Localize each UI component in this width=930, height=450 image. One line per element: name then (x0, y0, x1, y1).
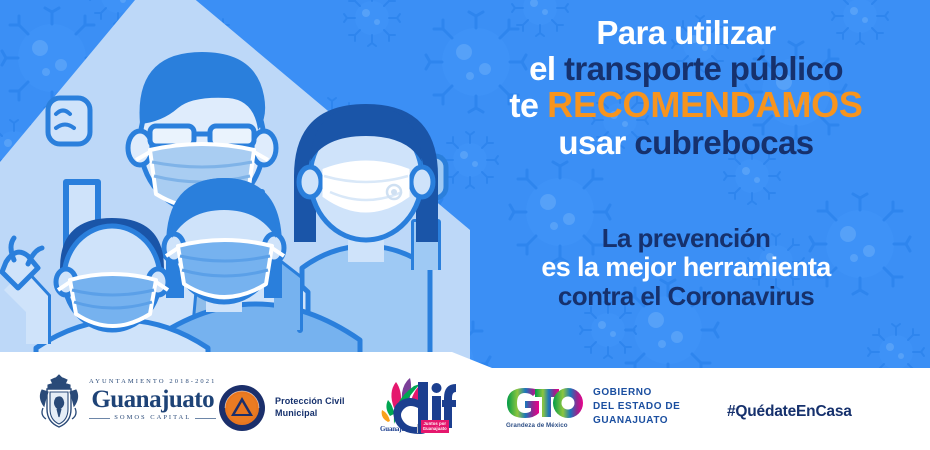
guanajuato-seal-text: AYUNTAMIENTO 2018-2021 Guanajuato SOMOS … (89, 379, 216, 422)
gob-line-3: GUANAJUATO (593, 414, 680, 428)
dif-tagline: Juntos por Guanajuato (421, 420, 449, 433)
guanajuato-seal-logo: AYUNTAMIENTO 2018-2021 Guanajuato SOMOS … (36, 372, 216, 428)
headline-line-2-white: el (529, 50, 555, 87)
headline-line-4-navy: cubrebocas (634, 124, 813, 161)
subhead-line-1: La prevención (455, 225, 917, 252)
masked-family-illustration (0, 0, 470, 362)
subhead-block: La prevención es la mejor herramienta co… (455, 225, 917, 312)
seal-tagline: SOMOS CAPITAL (114, 415, 191, 422)
gto-wordmark-icon: Grandeza de México (505, 386, 583, 428)
dif-tag-line-2: Guanajuato (423, 426, 447, 431)
seal-tagline-row: SOMOS CAPITAL (89, 415, 216, 422)
headline-line-3-white: te (509, 87, 538, 125)
pc-line-1: Protección Civil (275, 396, 345, 408)
seal-eyebrow: AYUNTAMIENTO 2018-2021 (89, 379, 216, 386)
subhead-line-3: contra el Coronavirus (455, 283, 917, 310)
headline-line-4-white: usar (558, 124, 625, 161)
headline-line-3: te RECOMENDAMOS (455, 87, 917, 124)
subhead-line-2: es la mejor herramienta (455, 254, 917, 282)
headline-line-2: el transporte público (455, 52, 917, 86)
headline-line-1: Para utilizar (455, 16, 917, 50)
gobierno-gto-logo: Grandeza de México GOBIERNO DEL ESTADO D… (505, 386, 680, 429)
headline-line-4: usar cubrebocas (455, 126, 917, 160)
gobierno-gto-text: GOBIERNO DEL ESTADO DE GUANAJUATO (593, 386, 680, 429)
civil-protection-triangle-icon (218, 384, 266, 432)
gob-line-1: GOBIERNO (593, 386, 680, 400)
dif-sub: Guanajuato (380, 425, 414, 433)
dif-logo-footer: Guanajuato Juntos por Guanajuato (380, 420, 458, 433)
dif-tag-line-1: Juntos por (424, 421, 447, 426)
covid-public-transport-poster: Para utilizar el transporte público te R… (0, 0, 930, 450)
proteccion-civil-logo: Protección Civil Municipal (218, 384, 345, 432)
hashtag-quedate-en-casa: #QuédateEnCasa (727, 403, 852, 421)
dif-divider (417, 424, 418, 433)
headline-line-2-navy: transporte público (564, 50, 843, 87)
gto-wordmark-sub: Grandeza de México (506, 422, 568, 429)
seal-wordmark: Guanajuato (91, 387, 214, 412)
coat-of-arms-icon (36, 372, 82, 428)
rule-right (195, 418, 216, 419)
rule-left (89, 418, 110, 419)
headline-block: Para utilizar el transporte público te R… (455, 16, 917, 162)
headline-line-3-orange: RECOMENDAMOS (547, 84, 863, 125)
proteccion-civil-text: Protección Civil Municipal (275, 396, 345, 420)
gob-line-2: DEL ESTADO DE (593, 400, 680, 414)
pc-line-2: Municipal (275, 408, 345, 420)
